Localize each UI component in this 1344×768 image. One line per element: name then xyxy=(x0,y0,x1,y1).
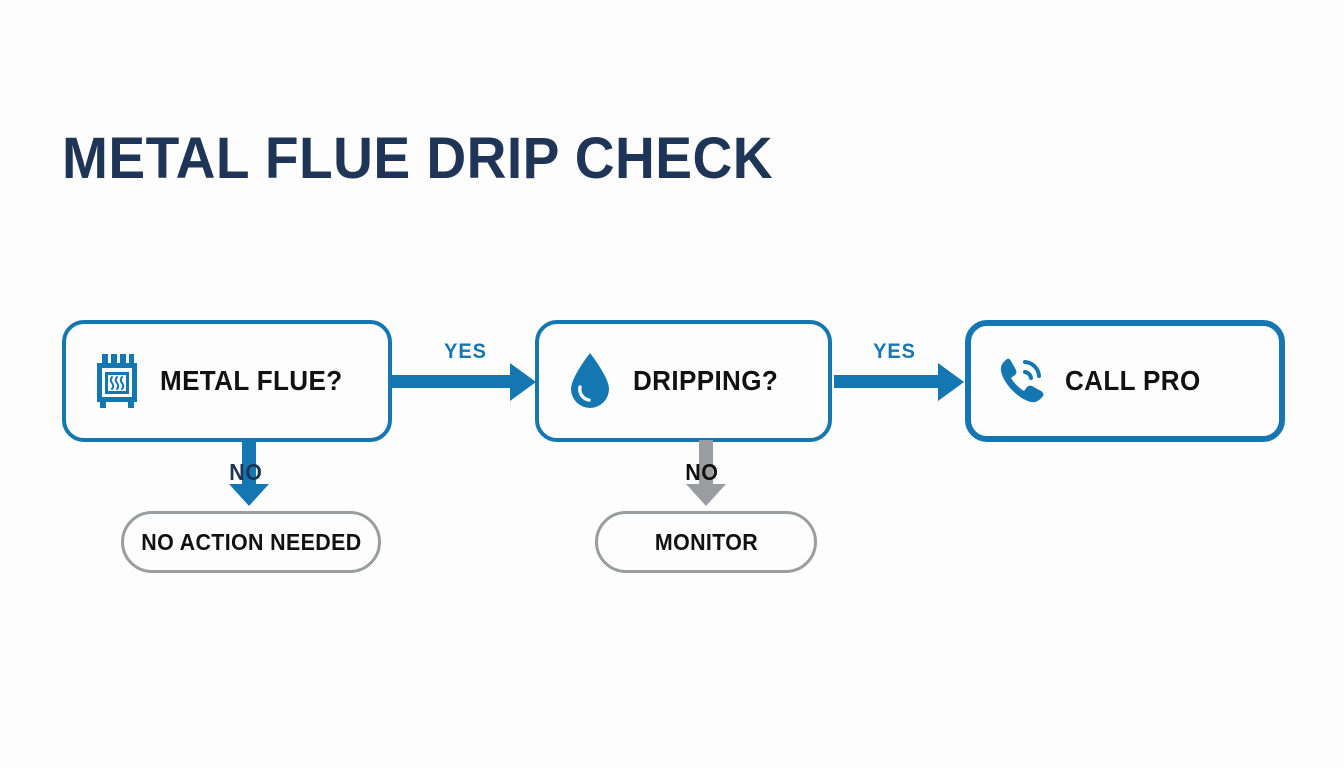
water-drop-icon xyxy=(561,350,619,412)
node-label-call-pro: CALL PRO xyxy=(1065,365,1201,397)
arrowhead-right-icon xyxy=(938,363,964,401)
node-label-no-action-needed: NO ACTION NEEDED xyxy=(141,529,361,556)
edge-label-yes-2: YES xyxy=(873,340,916,364)
phone-ringing-icon xyxy=(993,350,1051,412)
node-no-action-needed[interactable]: NO ACTION NEEDED xyxy=(121,511,381,573)
edge-dripping-to-call-pro xyxy=(834,361,967,401)
node-monitor[interactable]: MONITOR xyxy=(595,511,817,573)
edge-line xyxy=(834,375,942,388)
node-label-monitor: MONITOR xyxy=(654,529,757,556)
arrowhead-down-icon xyxy=(686,484,726,506)
node-label-metal-flue: METAL FLUE? xyxy=(160,365,342,397)
edge-label-yes-1: YES xyxy=(444,340,487,364)
flowchart-canvas: METAL FLUE DRIP CHECK xyxy=(0,0,1344,768)
node-call-pro[interactable]: CALL PRO xyxy=(965,320,1285,442)
edge-label-no-2: NO xyxy=(685,459,718,486)
edge-line xyxy=(392,375,514,388)
node-label-dripping: DRIPPING? xyxy=(633,365,778,397)
page-title: METAL FLUE DRIP CHECK xyxy=(62,128,773,190)
furnace-icon xyxy=(88,350,146,412)
edge-metal-flue-to-dripping xyxy=(392,361,538,401)
arrowhead-right-icon xyxy=(510,363,536,401)
edge-label-no-1: NO xyxy=(229,459,262,486)
node-dripping[interactable]: DRIPPING? xyxy=(535,320,832,442)
node-metal-flue[interactable]: METAL FLUE? xyxy=(62,320,392,442)
arrowhead-down-icon xyxy=(229,484,269,506)
